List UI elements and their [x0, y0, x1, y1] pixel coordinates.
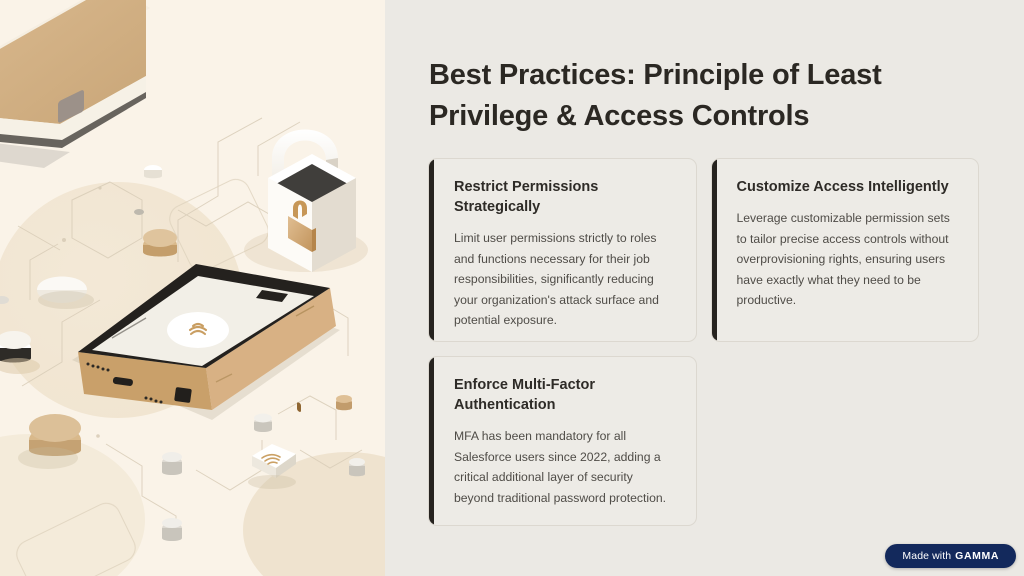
content-panel: Best Practices: Principle of Least Privi…: [385, 0, 1024, 576]
card-body: MFA has been mandatory for all Salesforc…: [454, 426, 676, 508]
card-body: Leverage customizable permission sets to…: [737, 208, 959, 311]
card-restrict-permissions[interactable]: Restrict Permissions Strategically Limit…: [428, 158, 697, 342]
fingerprint-icon: [167, 312, 229, 348]
illustration-panel: [0, 0, 385, 576]
slide: Best Practices: Principle of Least Privi…: [0, 0, 1024, 576]
knob-small: [144, 165, 162, 178]
card-accent-bar: [429, 159, 434, 341]
page-title: Best Practices: Principle of Least Privi…: [429, 55, 929, 137]
card-accent-bar: [712, 159, 717, 341]
card-row-top: Restrict Permissions Strategically Limit…: [428, 158, 979, 342]
card-title: Restrict Permissions Strategically: [454, 177, 676, 217]
card-customize-access[interactable]: Customize Access Intelligently Leverage …: [711, 158, 980, 342]
badge-prefix-label: Made with: [902, 550, 951, 562]
card-enforce-mfa[interactable]: Enforce Multi-Factor Authentication MFA …: [428, 356, 697, 526]
card-accent-bar: [429, 357, 434, 525]
card-row-bottom: Enforce Multi-Factor Authentication MFA …: [428, 342, 979, 526]
cards-area: Restrict Permissions Strategically Limit…: [428, 158, 979, 526]
badge-brand-label: GAMMA: [955, 550, 999, 562]
card-body: Limit user permissions strictly to roles…: [454, 228, 676, 331]
card-title: Customize Access Intelligently: [737, 177, 959, 197]
made-with-gamma-badge[interactable]: Made with GAMMA: [885, 544, 1016, 568]
isometric-security-illustration: [0, 0, 385, 576]
card-title: Enforce Multi-Factor Authentication: [454, 375, 676, 415]
